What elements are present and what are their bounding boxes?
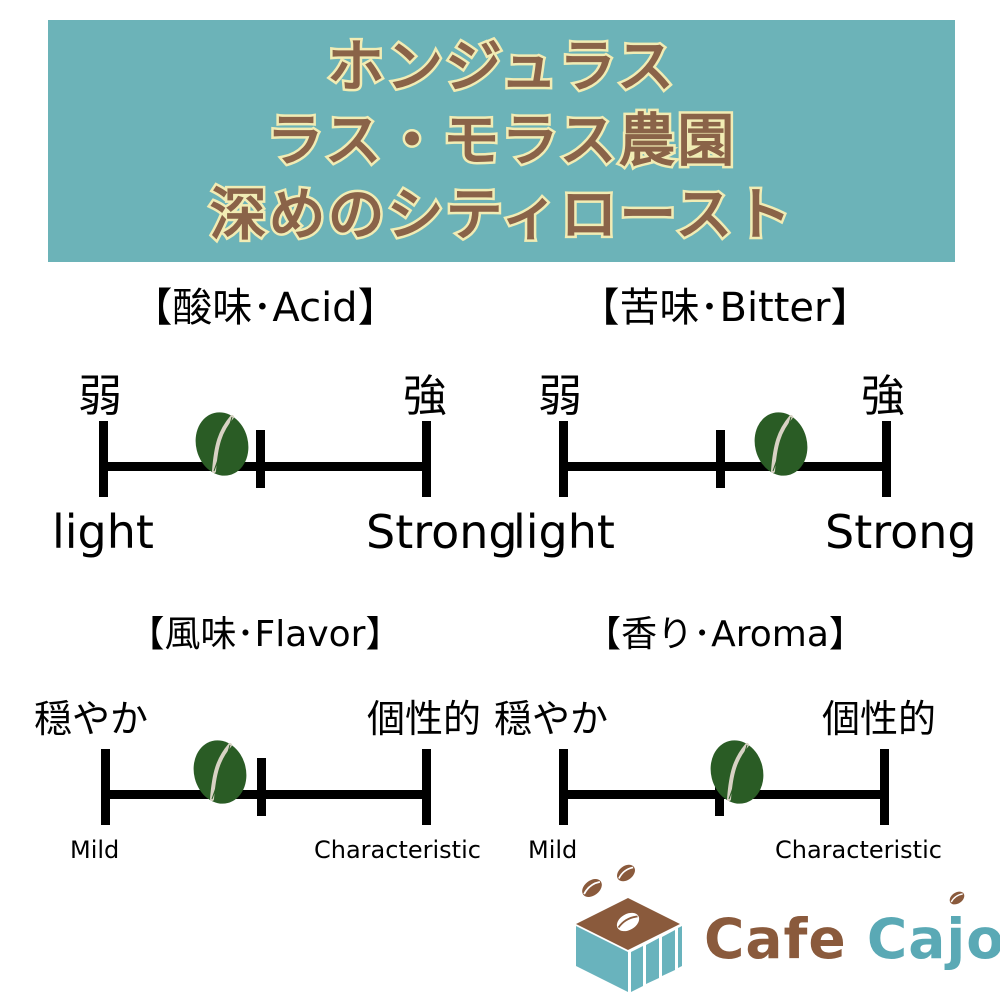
logo-word-cajon-j: j xyxy=(946,910,966,968)
logo-word-cajon-part1: Ca xyxy=(867,907,946,971)
bitter-right-jp-label: 強 xyxy=(861,360,905,424)
flavor-left-en-label: Mild xyxy=(70,836,119,864)
acid-left-en-label: light xyxy=(52,505,154,559)
aroma-tick-left xyxy=(559,749,568,825)
logo-word-cajon-part2: on xyxy=(966,907,1000,971)
brand-logo[interactable]: Cafe Cajon xyxy=(556,862,976,994)
flavor-tick-middle xyxy=(257,758,266,816)
cajon-box-icon xyxy=(564,862,692,994)
header-line-3: 深めのシティロースト xyxy=(210,178,794,252)
flavor-right-en-label: Characteristic xyxy=(314,836,481,864)
section-heading-acid: 【酸味･Acid】 xyxy=(45,275,485,333)
aroma-right-jp-label: 個性的 xyxy=(822,688,936,743)
aroma-left-en-label: Mild xyxy=(528,836,577,864)
section-heading-flavor: 【風味･Flavor】 xyxy=(45,605,485,657)
aroma-right-en-label: Characteristic xyxy=(775,836,942,864)
logo-wordmark: Cafe Cajon xyxy=(704,910,1000,968)
acid-bean-marker[interactable] xyxy=(194,411,250,477)
acid-axis-line xyxy=(99,462,431,471)
acid-right-en-label: Strong xyxy=(366,505,518,559)
bitter-right-en-label: Strong xyxy=(825,505,977,559)
aroma-scale[interactable] xyxy=(559,749,889,825)
acid-tick-middle xyxy=(256,430,265,488)
bitter-left-jp-label: 弱 xyxy=(538,360,582,424)
bitter-tick-left xyxy=(559,421,568,497)
aroma-bean-marker[interactable] xyxy=(709,739,765,805)
section-heading-bitter: 【苦味･Bitter】 xyxy=(505,275,945,333)
aroma-left-jp-label: 穏やか xyxy=(494,688,608,743)
bean-dot-icon xyxy=(948,890,966,906)
aroma-tick-right xyxy=(880,749,889,825)
flavor-tick-right xyxy=(422,749,431,825)
bitter-scale[interactable] xyxy=(559,421,891,497)
flavor-profile-card: ホンジュラス ラス・モラス農園 深めのシティロースト 【酸味･Acid】 弱 強… xyxy=(0,0,1000,1000)
acid-right-jp-label: 強 xyxy=(403,360,447,424)
flavor-scale[interactable] xyxy=(101,749,431,825)
flavor-right-jp-label: 個性的 xyxy=(367,688,481,743)
flavor-bean-marker[interactable] xyxy=(192,739,248,805)
bitter-axis-line xyxy=(559,462,891,471)
acid-tick-right xyxy=(422,421,431,497)
header-line-2: ラス・モラス農園 xyxy=(267,104,737,178)
acid-scale[interactable] xyxy=(99,421,431,497)
bitter-tick-middle xyxy=(716,430,725,488)
acid-tick-left xyxy=(99,421,108,497)
flavor-tick-left xyxy=(101,749,110,825)
bitter-tick-right xyxy=(882,421,891,497)
flavor-left-jp-label: 穏やか xyxy=(34,688,148,743)
section-heading-aroma: 【香り･Aroma】 xyxy=(505,605,945,657)
flavor-axis-line xyxy=(101,790,431,799)
acid-left-jp-label: 弱 xyxy=(78,360,122,424)
bitter-bean-marker[interactable] xyxy=(753,411,809,477)
logo-word-cafe: Cafe xyxy=(704,907,847,971)
header-line-1: ホンジュラス xyxy=(327,30,676,104)
header-banner: ホンジュラス ラス・モラス農園 深めのシティロースト xyxy=(48,20,955,262)
bitter-left-en-label: light xyxy=(513,505,615,559)
